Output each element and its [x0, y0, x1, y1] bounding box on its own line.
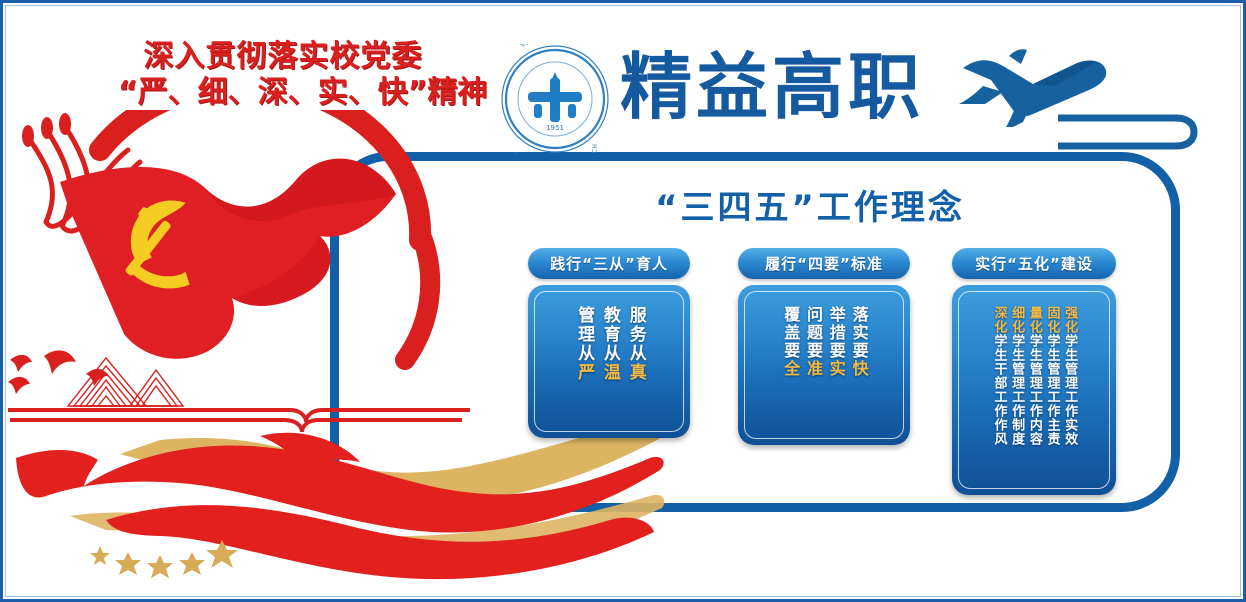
gold-stars	[90, 540, 238, 578]
panel-box-si-yao: 落实要快 举措要实 问题要准 覆盖要全	[738, 285, 910, 445]
col-gold: 固化	[1044, 306, 1059, 334]
panel-header-si-yao[interactable]: 履行“四要”标准	[738, 248, 910, 279]
col-lead: 学生干部工作作风	[992, 334, 1007, 446]
col-gold: 准	[804, 360, 823, 378]
airplane-icon	[955, 42, 1145, 127]
doves-icon	[8, 350, 108, 394]
col-gold: 强化	[1062, 306, 1077, 334]
panel-box-wu-hua: 强化学生管理工作实效 固化学生管理工作主责 量化学生管理工作内容 细化学生管理工…	[952, 285, 1116, 495]
mountain-lines	[68, 358, 183, 406]
brand-title: 精益高职	[620, 44, 924, 130]
panel-columns-wu-hua: 强化学生管理工作实效 固化学生管理工作主责 量化学生管理工作内容 细化学生管理工…	[958, 291, 1110, 489]
headline-line-1: 深入贯彻落实校党委	[118, 40, 448, 74]
panel-column: 固化学生管理工作主责	[1045, 306, 1059, 488]
col-lead: 学生管理工作主责	[1044, 334, 1059, 446]
col-gold: 量化	[1027, 306, 1042, 334]
panel-column: 举措要实	[827, 306, 844, 438]
col-gold: 全	[781, 360, 800, 378]
col-lead: 服务从	[626, 306, 646, 363]
col-gold: 细化	[1009, 306, 1024, 334]
panel-column: 教育从温	[600, 306, 618, 431]
col-gold: 严	[574, 363, 594, 382]
panel-columns-si-yao: 落实要快 举措要实 问题要准 覆盖要全	[744, 291, 904, 439]
col-lead: 举措要	[827, 306, 846, 360]
red-arc-right	[405, 240, 430, 360]
col-lead: 管理从	[574, 306, 594, 363]
panel-column: 覆盖要全	[781, 306, 798, 438]
col-lead: 问题要	[804, 306, 823, 360]
emblem-year: 1951	[546, 124, 564, 132]
col-lead: 学生管理工作制度	[1009, 334, 1024, 446]
panel-header-san-cong[interactable]: 践行“三从”育人	[528, 248, 690, 279]
panel-column: 问题要准	[804, 306, 821, 438]
panel-column: 深化学生干部工作作风	[992, 306, 1006, 488]
col-lead: 落实要	[850, 306, 869, 360]
panel-box-san-cong: 服务从真 教育从温 管理从严	[528, 285, 690, 438]
col-lead: 学生管理工作实效	[1062, 334, 1077, 446]
poster-canvas: 深入贯彻落实校党委 “严、细、深、实、快”精神 1951 中国民航大学 CIVI…	[0, 0, 1246, 602]
panel-column: 落实要快	[850, 306, 867, 438]
panel-columns-san-cong: 服务从真 教育从温 管理从严	[534, 291, 684, 432]
col-lead: 学生管理工作内容	[1027, 334, 1042, 446]
col-lead: 覆盖要	[781, 306, 800, 360]
tassel-tips	[22, 113, 71, 147]
panel-header-wu-hua[interactable]: 实行“五化”建设	[952, 248, 1116, 279]
panel-column: 强化学生管理工作实效	[1062, 306, 1076, 488]
panel-column: 管理从严	[574, 306, 592, 431]
col-gold: 深化	[992, 306, 1007, 334]
col-lead: 教育从	[600, 306, 620, 363]
col-gold: 实	[827, 360, 846, 378]
col-gold: 快	[850, 360, 869, 378]
headline-line-2: “严、细、深、实、快”精神	[118, 74, 448, 112]
university-emblem-icon: 1951 中国民航大学 CIVIL AVIATION UNIVERSITY OF…	[500, 44, 610, 154]
headline-block: 深入贯彻落实校党委 “严、细、深、实、快”精神	[118, 40, 448, 112]
panel-column: 细化学生管理工作制度	[1010, 306, 1024, 488]
frame-title: “三四五”工作理念	[600, 180, 1020, 229]
col-gold: 真	[626, 363, 646, 382]
panel-column: 服务从真	[626, 306, 644, 431]
panel-column: 量化学生管理工作内容	[1027, 306, 1041, 488]
col-gold: 温	[600, 363, 620, 382]
